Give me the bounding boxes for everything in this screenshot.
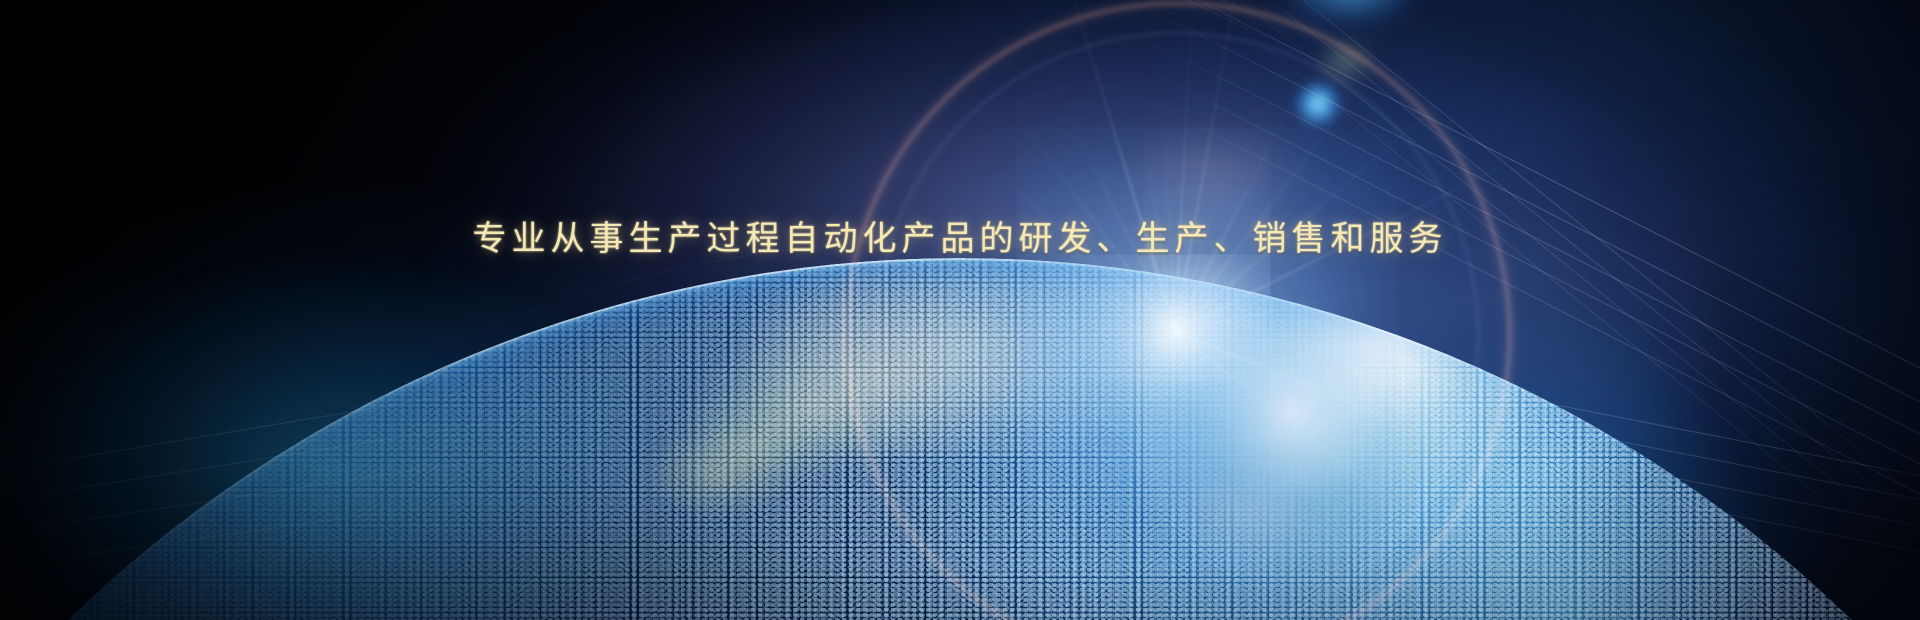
- lens-flare-orb-magenta: [1177, 466, 1327, 558]
- banner-headline: 专业从事生产过程自动化产品的研发、生产、销售和服务: [0, 222, 1920, 256]
- hero-banner: 专业从事生产过程自动化产品的研发、生产、销售和服务: [0, 0, 1920, 620]
- lens-flare-orb-blue: [1284, 0, 1416, 22]
- lens-flare-orb-cyan: [1295, 81, 1341, 127]
- lens-flare-orb-rose: [1121, 116, 1311, 236]
- lens-flare-orb-olive: [1317, 39, 1373, 85]
